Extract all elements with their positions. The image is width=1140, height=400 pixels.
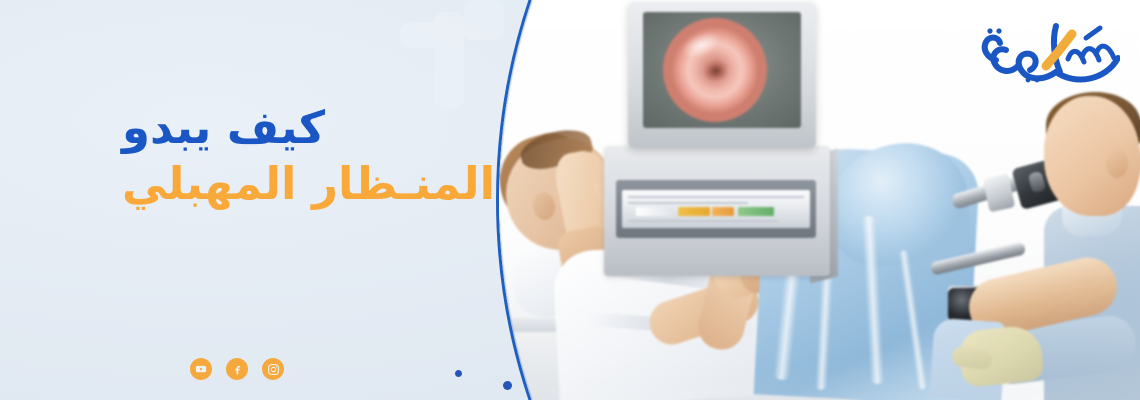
panel-indicator-green: [738, 207, 774, 216]
equipment-control-panel: [622, 190, 810, 228]
panel-indicator-orange: [712, 207, 734, 216]
brand-logo[interactable]: [968, 14, 1120, 92]
youtube-icon[interactable]: [190, 358, 212, 380]
headline-line-1: كيف يبدو: [122, 104, 495, 152]
instagram-icon[interactable]: [262, 358, 284, 380]
monitor-screen: [643, 12, 801, 128]
social-links: [190, 358, 284, 380]
doctor-ear: [1106, 148, 1128, 178]
panel-indicator-yellow: [678, 207, 710, 216]
panel-indicator: [636, 207, 674, 216]
decorative-dot: [455, 370, 462, 377]
headline: كيف يبدو المنـظار المهبلي: [122, 104, 495, 207]
promo-banner: كيف يبدو المنـظار المهبلي: [0, 0, 1140, 400]
facebook-icon[interactable]: [226, 358, 248, 380]
headline-line-2: المنـظار المهبلي: [122, 160, 495, 208]
